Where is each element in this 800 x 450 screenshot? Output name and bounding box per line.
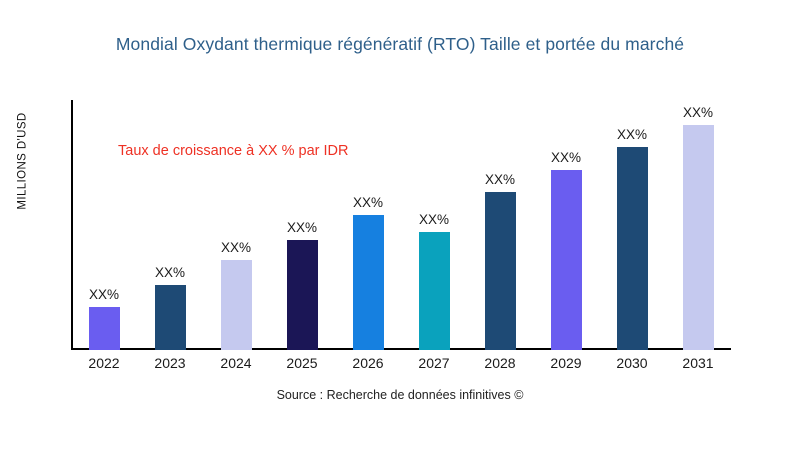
bar-value-label: XX% [137,265,203,280]
bar-value-label: XX% [665,105,731,120]
y-axis-label-text: MILLIONS D'USD [17,112,29,209]
bar-value-label: XX% [335,195,401,210]
x-tick-2026: 2026 [335,355,401,371]
x-tick-2023: 2023 [137,355,203,371]
bar-group: XX% [533,100,599,350]
source-note: Source : Recherche de données infinitive… [0,388,800,402]
x-tick-2028: 2028 [467,355,533,371]
bar-value-label: XX% [71,287,137,302]
bar-value-label: XX% [269,220,335,235]
bar-value-label: XX% [401,212,467,227]
bar-2022[interactable] [89,307,120,350]
x-tick-2022: 2022 [71,355,137,371]
plot-area: XX%XX%XX%XX%XX%XX%XX%XX%XX%XX% [71,100,800,350]
bar-value-label: XX% [599,127,665,142]
bar-group: XX% [335,100,401,350]
bar-group: XX% [401,100,467,350]
x-tick-2030: 2030 [599,355,665,371]
bar-2027[interactable] [419,232,450,350]
bar-group: XX% [137,100,203,350]
bar-2026[interactable] [353,215,384,350]
x-tick-2031: 2031 [665,355,731,371]
x-tick-2025: 2025 [269,355,335,371]
x-tick-2029: 2029 [533,355,599,371]
bar-group: XX% [269,100,335,350]
bar-group: XX% [71,100,137,350]
bar-2025[interactable] [287,240,318,350]
chart-title: Mondial Oxydant thermique régénératif (R… [0,34,800,55]
bar-value-label: XX% [203,240,269,255]
bar-value-label: XX% [533,150,599,165]
bar-group: XX% [599,100,665,350]
bar-group: XX% [467,100,533,350]
bar-chart: Mondial Oxydant thermique régénératif (R… [0,0,800,450]
bar-2029[interactable] [551,170,582,350]
bar-2030[interactable] [617,147,648,350]
bar-value-label: XX% [467,172,533,187]
bar-group: XX% [665,100,731,350]
bar-2028[interactable] [485,192,516,350]
bar-2023[interactable] [155,285,186,350]
x-tick-2027: 2027 [401,355,467,371]
x-tick-2024: 2024 [203,355,269,371]
bar-group: XX% [203,100,269,350]
y-axis-label: MILLIONS D'USD [12,95,34,325]
growth-rate-annotation: Taux de croissance à XX % par IDR [118,143,349,159]
bar-2031[interactable] [683,125,714,350]
bar-2024[interactable] [221,260,252,350]
